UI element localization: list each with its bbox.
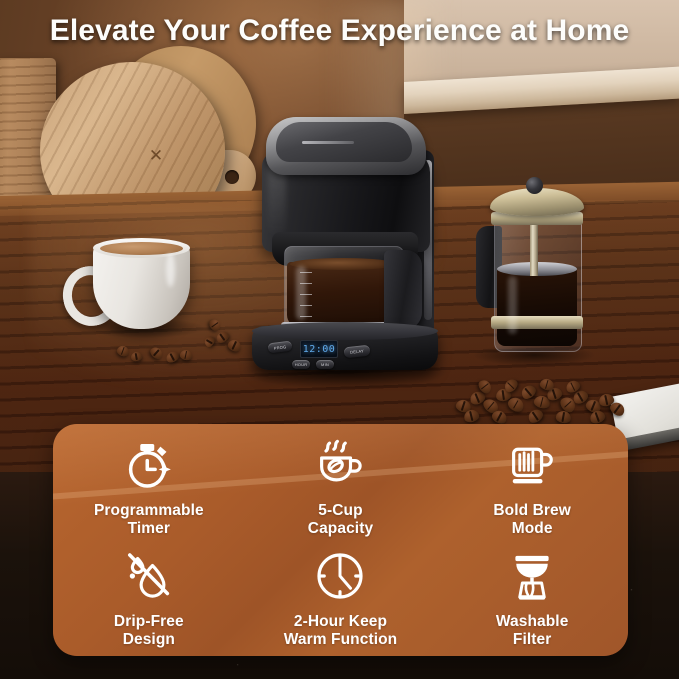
feature-label-line2: Filter [496,631,569,649]
feature-label-line1: Drip-Free [114,613,184,631]
carafe-highlight [296,266,306,320]
feature-item-drip-free-design: Drip-Free Design [53,540,245,656]
feature-item-5-cup-capacity: 5-Cup Capacity [245,424,437,540]
filter-funnel-icon [504,548,560,604]
feature-label-line2: Design [114,631,184,649]
cutting-board-x-mark: ✕ [148,148,164,164]
feature-panel: Programmable Timer [53,424,628,656]
feature-label: Programmable Timer [94,502,204,538]
stopwatch-icon [121,437,177,493]
feature-item-washable-filter: Washable Filter [436,540,628,656]
feature-item-keep-warm: 2-Hour Keep Warm Function [245,540,437,656]
clock-icon [312,548,368,604]
coffee-maker-brand-mark [302,141,354,144]
feature-label-line2: Capacity [308,520,373,538]
cup-highlight [166,253,175,287]
no-drip-icon [121,548,177,604]
french-press-lower-band [491,316,583,329]
feature-label-line1: 5-Cup [308,502,373,520]
feature-label: Drip-Free Design [114,613,184,649]
bold-brew-mug-icon [504,437,560,493]
feature-label: 5-Cup Capacity [308,502,373,538]
feature-label-line2: Timer [94,520,204,538]
feature-item-bold-brew-mode: Bold Brew Mode [436,424,628,540]
feature-label-line2: Mode [493,520,571,538]
feature-label: Washable Filter [496,613,569,649]
feature-label-line2: Warm Function [284,631,398,649]
feature-label-line1: Washable [496,613,569,631]
feature-label: 2-Hour Keep Warm Function [284,613,398,649]
product-lifestyle-image: ✕ 12:00 PROG DELAY HOUR MIN [0,0,679,679]
feature-label: Bold Brew Mode [493,502,571,538]
hour-button[interactable]: HOUR [292,360,310,369]
lcd-time-value: 12:00 [303,344,336,355]
minute-button[interactable]: MIN [316,360,334,369]
feature-label-line1: 2-Hour Keep [284,613,398,631]
feature-item-programmable-timer: Programmable Timer [53,424,245,540]
feature-label-line1: Programmable [94,502,204,520]
carafe-handle[interactable] [384,250,422,330]
feature-grid: Programmable Timer [53,424,628,656]
french-press-highlight [508,276,517,334]
page-title: Elevate Your Coffee Experience at Home [0,14,679,48]
coffee-cup-bean-icon [312,437,368,493]
warming-plate [252,322,438,340]
lcd-display: 12:00 [300,340,338,358]
feature-label-line1: Bold Brew [493,502,571,520]
coffee-bean-pile [452,378,630,424]
cutting-board-hole [225,170,239,184]
carafe-coffee-surface [290,258,396,270]
french-press-knob[interactable] [526,177,543,194]
